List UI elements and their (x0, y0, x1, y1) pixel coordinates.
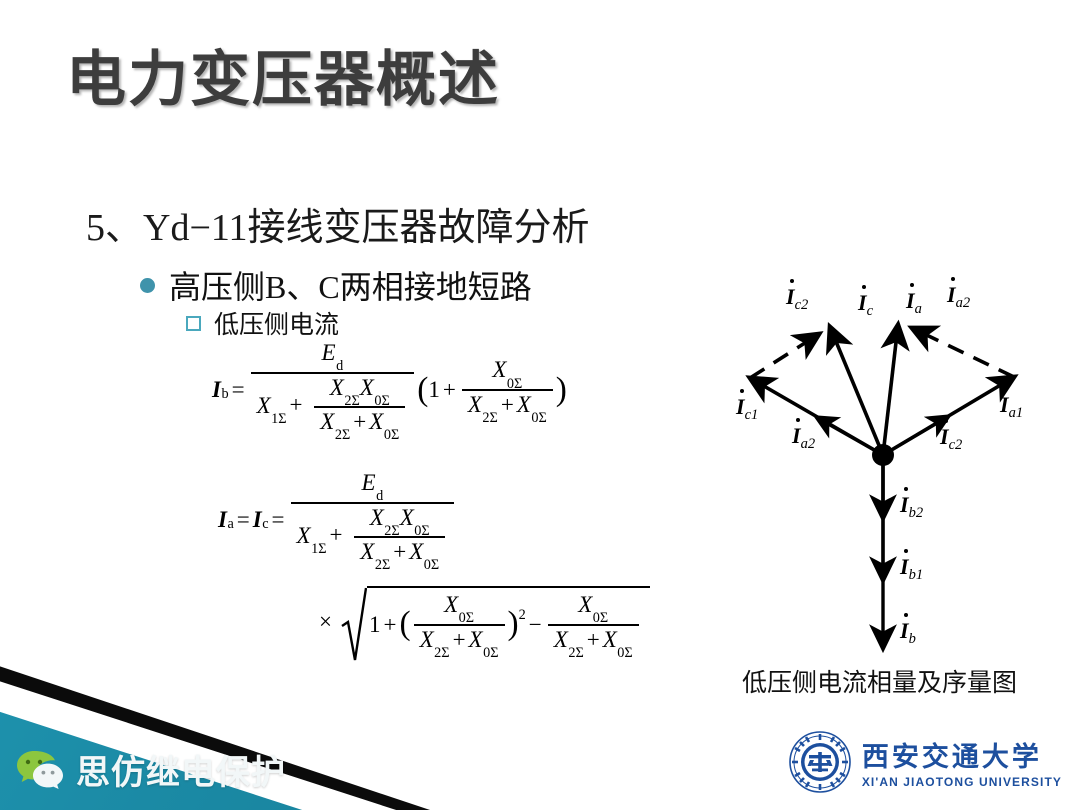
f2-inner-den-plus: + (390, 539, 409, 564)
f3-b-den: X2Σ+X0Σ (548, 624, 639, 658)
f1-tail-den: X2Σ+X0Σ (462, 389, 553, 423)
f2-inner-den-Xb-sub: 0Σ (424, 557, 439, 573)
dashed-ia2-top (912, 328, 1014, 377)
f3-b-num-X: X (578, 592, 592, 617)
dot-bullet-icon (140, 278, 155, 293)
f1-one: 1 (428, 377, 440, 403)
f2-denominator: X1Σ+ X2ΣX0Σ X2Σ+X0Σ (291, 502, 455, 570)
f2-lhs-sub1: a (227, 516, 233, 533)
f3-radicand: 1 + ( X0Σ X2Σ+X0Σ )2 − X0Σ (367, 586, 650, 657)
vector-ia (883, 325, 898, 455)
f2-numerator: Ed (356, 470, 390, 502)
f2-inner-num-Xb: X (400, 505, 414, 530)
f3-b-den-Xa-sub: 2Σ (568, 645, 583, 661)
university-crest-icon (788, 730, 852, 794)
dashed-ic2-top (750, 334, 819, 378)
label-ic2-top: Ic2 (786, 284, 808, 310)
f1-tail-den-Xb: X (517, 392, 531, 417)
wechat-icon (16, 749, 64, 791)
f3-minus: − (526, 612, 545, 638)
f1-tail-den-plus: + (498, 392, 517, 417)
vector-ia2-left-mid (816, 417, 883, 455)
f2-den-plus: + (327, 522, 346, 547)
f3-b-den-plus: + (584, 627, 603, 652)
f2-num-sub: d (376, 488, 383, 504)
f2-inner-den-Xb: X (409, 539, 423, 564)
university-names: 西安交通大学 XI'AN JIAOTONG UNIVERSITY (862, 735, 1062, 789)
f1-tail-fraction: X0Σ X2Σ+X0Σ (462, 357, 553, 422)
f1-lhs-sub: b (221, 386, 228, 403)
f1-inner-num: X2ΣX0Σ (324, 375, 396, 407)
university-name-cn: 西安交通大学 (862, 735, 1062, 774)
f1-equals: = (229, 377, 248, 403)
f1-plus: + (440, 377, 459, 403)
f2-inner-den-Xa: X (360, 539, 374, 564)
f2-den-X1-sub: 1Σ (311, 541, 326, 557)
label-ic1-left: Ic1 (736, 394, 758, 420)
f2-inner-num-Xa: X (370, 505, 384, 530)
f2-inner-num: X2ΣX0Σ (364, 505, 436, 537)
phasor-diagram: Ic2 Ic Ia Ia2 Ic1 Ia2 Ia1 Ic2 Ib2 Ib1 Ib (718, 280, 1048, 680)
label-ia-top: Ia (906, 288, 922, 314)
f1-lhs-var: I (212, 377, 221, 403)
phasor-svg (718, 280, 1048, 680)
f1-tail-den-Xb-sub: 0Σ (531, 410, 546, 426)
university-name-en: XI'AN JIAOTONG UNIVERSITY (862, 775, 1062, 789)
f3-plus: + (380, 612, 399, 638)
f1-num-E: E (322, 340, 336, 365)
f3-b-num-X-sub: 0Σ (593, 610, 608, 626)
f3-a-num: X0Σ (438, 592, 480, 624)
page-title: 电力变压器概述 (66, 48, 500, 111)
f3-a-den-Xa-sub: 2Σ (434, 645, 449, 661)
f3-a-den: X2Σ+X0Σ (414, 624, 505, 658)
phasor-caption: 低压侧电流相量及序量图 (742, 663, 1017, 699)
f2-main-fraction: Ed X1Σ+ X2ΣX0Σ X2Σ+X0Σ (291, 470, 455, 570)
bullet-level3: 低压侧电流 (186, 305, 339, 341)
f1-tail-num-X-sub: 0Σ (507, 376, 522, 392)
f1-inner-den-Xb-sub: 0Σ (384, 427, 399, 443)
f2-inner-num-Xa-sub: 2Σ (384, 523, 399, 539)
formula-sqrt-factor: × 1 + ( X0Σ X2Σ+X0Σ )2 (316, 586, 650, 657)
f1-inner-den-Xa-sub: 2Σ (335, 427, 350, 443)
f1-main-fraction: Ed X1Σ+ X2ΣX0Σ X2Σ+X0Σ (251, 340, 415, 440)
f3-b-num: X0Σ (572, 592, 614, 624)
f3-fraction-b: X0Σ X2Σ+X0Σ (548, 592, 639, 657)
f1-inner-den: X2Σ+X0Σ (314, 406, 405, 440)
f2-lhs-sub2: c (262, 516, 268, 533)
f1-den-X1: X (257, 392, 271, 417)
f3-sqrt: 1 + ( X0Σ X2Σ+X0Σ )2 − X0Σ (341, 586, 650, 657)
f1-inner-fraction: X2ΣX0Σ X2Σ+X0Σ (314, 375, 405, 440)
f2-inner-fraction: X2ΣX0Σ X2Σ+X0Σ (354, 505, 445, 570)
f2-inner-den: X2Σ+X0Σ (354, 536, 445, 570)
f3-a-num-X: X (444, 592, 458, 617)
f3-b-den-Xb-sub: 0Σ (617, 645, 632, 661)
f1-num-sub: d (336, 358, 343, 374)
f1-inner-den-Xa: X (320, 409, 334, 434)
f3-a-num-X-sub: 0Σ (459, 610, 474, 626)
f1-tail-num-X: X (492, 357, 506, 382)
f1-inner-den-Xb: X (369, 409, 383, 434)
f2-inner-num-Xb-sub: 0Σ (414, 523, 429, 539)
label-ic2-right: Ic2 (940, 424, 962, 450)
slide-canvas: 电力变压器概述 5、Yd−11接线变压器故障分析 高压侧B、C两相接地短路 低压… (0, 0, 1080, 810)
label-ia1-right: Ia1 (1000, 392, 1023, 418)
label-ia2-top: Ia2 (947, 282, 970, 308)
f3-close-paren: ) (508, 611, 519, 638)
label-ic-top: Ic (858, 290, 873, 316)
label-ia2-left: Ia2 (792, 423, 815, 449)
f3-open-paren: ( (399, 611, 410, 638)
f2-equals1: = (234, 507, 253, 533)
f3-times: × (316, 609, 335, 635)
watermark: 思仿继电保护 (16, 745, 286, 794)
f3-power: 2 (519, 607, 526, 624)
f1-open-paren: ( (417, 377, 428, 404)
f1-numerator: Ed (316, 340, 350, 372)
f2-lhs-var2: I (253, 507, 262, 533)
f3-a-den-plus: + (450, 627, 469, 652)
f1-inner-num-Xa: X (330, 375, 344, 400)
f2-lhs-var1: I (218, 507, 227, 533)
bullet-level2: 高压侧B、C两相接地短路 (140, 262, 532, 308)
university-logo: 西安交通大学 XI'AN JIAOTONG UNIVERSITY (788, 730, 1062, 794)
label-ib1: Ib1 (900, 554, 923, 580)
f3-one: 1 (369, 612, 381, 638)
formula-ib: Ib = Ed X1Σ+ X2ΣX0Σ X2Σ+X0Σ ( 1 + (212, 340, 567, 440)
f1-inner-num-Xb-sub: 0Σ (374, 393, 389, 409)
f1-den-X1-sub: 1Σ (271, 411, 286, 427)
square-bullet-icon (186, 316, 201, 331)
f2-equals2: = (269, 507, 288, 533)
f1-inner-num-Xa-sub: 2Σ (344, 393, 359, 409)
f1-close-paren: ) (556, 377, 567, 404)
label-ib2: Ib2 (900, 492, 923, 518)
f1-inner-num-Xb: X (360, 375, 374, 400)
f2-inner-den-Xa-sub: 2Σ (375, 557, 390, 573)
f2-den-X1: X (297, 522, 311, 547)
f2-num-E: E (362, 470, 376, 495)
label-ib: Ib (900, 618, 916, 644)
f1-tail-den-Xa-sub: 2Σ (482, 410, 497, 426)
f1-den-plus: + (287, 392, 306, 417)
f3-b-den-Xa: X (554, 627, 568, 652)
watermark-text: 思仿继电保护 (76, 745, 286, 794)
f3-fraction-a: X0Σ X2Σ+X0Σ (414, 592, 505, 657)
radical-icon (341, 586, 367, 657)
f3-b-den-Xb: X (603, 627, 617, 652)
bullet-level2-label: 高压侧B、C两相接地短路 (169, 262, 532, 308)
f1-tail-den-Xa: X (468, 392, 482, 417)
f3-a-den-Xa: X (420, 627, 434, 652)
f3-a-den-Xb-sub: 0Σ (483, 645, 498, 661)
vector-ic (830, 327, 883, 455)
heading-level1: 5、Yd−11接线变压器故障分析 (86, 196, 589, 251)
f1-inner-den-plus: + (350, 409, 369, 434)
f3-a-den-Xb: X (469, 627, 483, 652)
bullet-level3-label: 低压侧电流 (214, 305, 339, 341)
f1-tail-num: X0Σ (486, 357, 528, 389)
f1-denominator: X1Σ+ X2ΣX0Σ X2Σ+X0Σ (251, 372, 415, 440)
formula-ia-ic: Ia = Ic = Ed X1Σ+ X2ΣX0Σ X2Σ+X0Σ (218, 470, 457, 570)
